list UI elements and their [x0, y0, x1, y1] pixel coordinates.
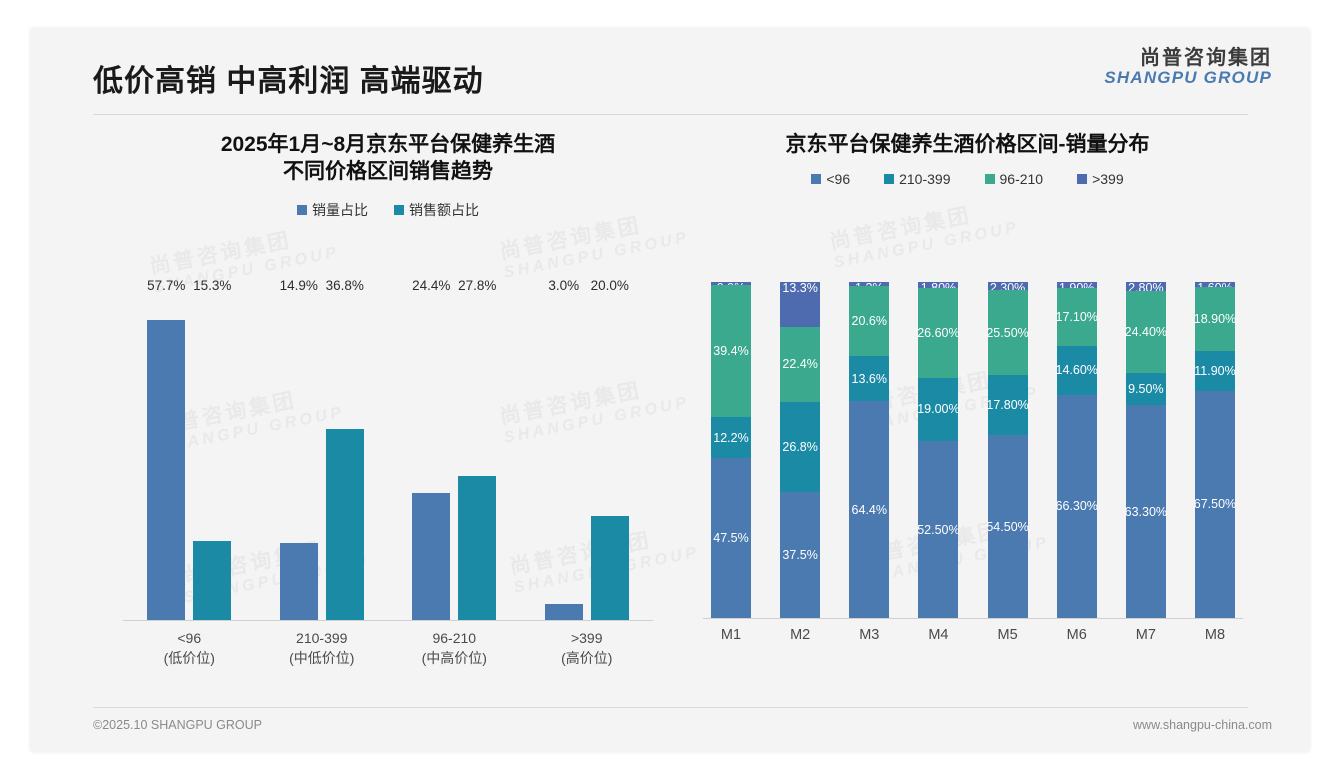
stacked-bar-column: 0.9%39.4%12.2%47.5% — [711, 282, 751, 618]
bar-column: 57.7% — [147, 298, 185, 620]
segment-value-label: 54.50% — [986, 520, 1028, 534]
stacked-bar-segment[interactable]: 17.80% — [988, 375, 1028, 435]
legend-swatch-icon — [884, 174, 894, 184]
bar-group: 57.7%15.3% — [133, 298, 245, 620]
segment-value-label: 11.90% — [1194, 364, 1235, 378]
month-tick-label: M5 — [988, 627, 1028, 643]
segment-value-label: 9.50% — [1128, 382, 1163, 396]
segment-value-label: 24.40% — [1125, 325, 1167, 339]
bar-group: 14.9%36.8% — [266, 298, 378, 620]
stacked-bar-segment[interactable]: 19.00% — [918, 378, 958, 442]
category-tick-primary: 210-399 — [266, 628, 378, 648]
stacked-bar-column: 2.80%24.40%9.50%63.30% — [1126, 282, 1166, 618]
legend-swatch-icon — [811, 174, 821, 184]
bar[interactable]: 3.0% — [545, 604, 583, 620]
stacked-bar-column: 13.3%22.4%26.8%37.5% — [780, 282, 820, 618]
stacked-bar-segment[interactable]: 67.50% — [1195, 391, 1235, 618]
stacked-bar-column: 1.60%18.90%11.90%67.50% — [1195, 282, 1235, 618]
segment-value-label: 26.8% — [782, 440, 817, 454]
segment-value-label: 47.5% — [713, 531, 748, 545]
month-tick-label: M6 — [1057, 627, 1097, 643]
bar-value-label: 14.9% — [280, 278, 318, 293]
bar[interactable]: 24.4% — [412, 493, 450, 620]
stacked-bar-segment[interactable]: 37.5% — [780, 492, 820, 618]
brand-logo: 尚普咨询集团 SHANGPU GROUP — [1104, 48, 1272, 87]
bar[interactable]: 57.7% — [147, 320, 185, 620]
segment-value-label: 17.80% — [986, 398, 1028, 412]
stacked-bar-segment[interactable]: 47.5% — [711, 458, 751, 618]
stacked-bar-segment[interactable]: 20.6% — [849, 286, 889, 355]
stacked-bar-segment[interactable]: 12.2% — [711, 417, 751, 458]
bar-column: 24.4% — [412, 298, 450, 620]
segment-value-label: 37.5% — [782, 548, 817, 562]
stacked-bar-column: 1.80%26.60%19.00%52.50% — [918, 282, 958, 618]
month-tick-label: M1 — [711, 627, 751, 643]
category-tick-label: 96-210(中高价位) — [398, 628, 510, 669]
stacked-bar-segment[interactable]: 24.40% — [1126, 291, 1166, 373]
category-tick-secondary: (高价位) — [531, 648, 643, 668]
month-tick-label: M7 — [1126, 627, 1166, 643]
segment-value-label: 18.90% — [1194, 312, 1236, 326]
category-tick-secondary: (中高价位) — [398, 648, 510, 668]
stacked-bar-segment[interactable]: 22.4% — [780, 327, 820, 402]
category-tick-secondary: (低价位) — [133, 648, 245, 668]
month-tick-label: M3 — [849, 627, 889, 643]
stacked-bar-segment[interactable]: 25.50% — [988, 290, 1028, 376]
bar-value-label: 3.0% — [548, 278, 579, 293]
category-tick-primary: >399 — [531, 628, 643, 648]
bar[interactable]: 14.9% — [280, 543, 318, 620]
legend-item-210-399[interactable]: 210-399 — [884, 171, 950, 187]
segment-value-label: 17.10% — [1056, 310, 1098, 324]
stacked-bar-segment[interactable]: 13.3% — [780, 282, 820, 327]
stacked-bar-segment[interactable]: 26.60% — [918, 288, 958, 377]
stacked-bar-segment[interactable]: 14.60% — [1057, 346, 1097, 395]
legend-item->399[interactable]: >399 — [1077, 171, 1124, 187]
bar-column: 15.3% — [193, 298, 231, 620]
stacked-bar-segment[interactable]: 66.30% — [1057, 395, 1097, 618]
left-chart-title: 2025年1月~8月京东平台保健养生酒 不同价格区间销售趋势 — [93, 132, 683, 186]
legend-label: 210-399 — [899, 171, 950, 187]
legend-item-<96[interactable]: <96 — [811, 171, 850, 187]
segment-value-label: 39.4% — [713, 344, 748, 358]
footer-copyright: ©2025.10 SHANGPU GROUP — [93, 718, 262, 732]
bar-value-label: 27.8% — [458, 278, 496, 293]
legend-label: 96-210 — [1000, 171, 1044, 187]
stacked-bar-category-axis: M1M2M3M4M5M6M7M8 — [703, 627, 1243, 643]
month-tick-label: M8 — [1195, 627, 1235, 643]
stacked-bar-plot-area: 0.9%39.4%12.2%47.5%13.3%22.4%26.8%37.5%1… — [703, 282, 1243, 619]
bar-value-label: 24.4% — [412, 278, 450, 293]
stacked-bar-segment[interactable]: 2.80% — [1126, 282, 1166, 291]
stacked-bar-segment[interactable]: 39.4% — [711, 285, 751, 417]
slide-canvas: 尚普咨询集团 SHANGPU GROUP 尚普咨询集团 SHANGPU GROU… — [30, 28, 1310, 752]
stacked-bar-segment[interactable]: 18.90% — [1195, 287, 1235, 351]
legend-label: >399 — [1092, 171, 1124, 187]
segment-value-label: 67.50% — [1194, 497, 1236, 511]
category-tick-primary: 96-210 — [398, 628, 510, 648]
segment-value-label: 26.60% — [917, 326, 959, 340]
bar[interactable]: 20.0% — [591, 516, 629, 620]
slide: 尚普咨询集团 SHANGPU GROUP 尚普咨询集团 SHANGPU GROU… — [0, 0, 1340, 780]
stacked-bar-column: 1.90%17.10%14.60%66.30% — [1057, 282, 1097, 618]
stacked-bar-segment[interactable]: 11.90% — [1195, 351, 1235, 391]
legend-label: 销量占比 — [312, 200, 368, 220]
stacked-bar-segment[interactable]: 26.8% — [780, 402, 820, 492]
bar[interactable]: 36.8% — [326, 429, 364, 620]
bar-group: 3.0%20.0% — [531, 298, 643, 620]
stacked-bar-segment[interactable]: 52.50% — [918, 441, 958, 618]
bar-column: 3.0% — [545, 298, 583, 620]
left-chart-panel: 2025年1月~8月京东平台保健养生酒 不同价格区间销售趋势 销量占比 销售额占… — [93, 132, 683, 702]
segment-value-label: 66.30% — [1056, 499, 1098, 513]
stacked-bar-segment[interactable]: 54.50% — [988, 435, 1028, 618]
stacked-bar-segment[interactable]: 63.30% — [1126, 405, 1166, 618]
bar[interactable]: 15.3% — [193, 541, 231, 620]
segment-value-label: 13.6% — [852, 372, 887, 386]
month-tick-label: M2 — [780, 627, 820, 643]
segment-value-label: 64.4% — [852, 503, 887, 517]
bar-value-label: 36.8% — [326, 278, 364, 293]
bar-value-label: 20.0% — [591, 278, 629, 293]
bar-column: 14.9% — [280, 298, 318, 620]
stacked-bar-segment[interactable]: 9.50% — [1126, 373, 1166, 405]
legend-swatch-icon — [1077, 174, 1087, 184]
stacked-bar-segment[interactable]: 64.4% — [849, 401, 889, 618]
category-tick-secondary: (中低价位) — [266, 648, 378, 668]
logo-chinese-name: 尚普咨询集团 — [1104, 48, 1272, 69]
legend-item-sales-volume[interactable]: 销量占比 — [297, 200, 368, 220]
left-chart-title-line2: 不同价格区间销售趋势 — [127, 159, 649, 186]
legend-label: <96 — [826, 171, 850, 187]
footer-website[interactable]: www.shangpu-china.com — [1133, 718, 1272, 732]
legend-swatch-icon — [394, 205, 404, 215]
bar-column: 27.8% — [458, 298, 496, 620]
grouped-bar-category-axis: <96(低价位)210-399(中低价位)96-210(中高价位)>399(高价… — [123, 628, 653, 669]
header-divider — [93, 114, 1248, 115]
category-tick-label: 210-399(中低价位) — [266, 628, 378, 669]
segment-value-label: 20.6% — [852, 314, 887, 328]
page-title: 低价高销 中高利润 高端驱动 — [93, 56, 484, 100]
legend-swatch-icon — [297, 205, 307, 215]
segment-value-label: 14.60% — [1056, 363, 1098, 377]
segment-value-label: 19.00% — [917, 402, 959, 416]
logo-english-name: SHANGPU GROUP — [1104, 69, 1272, 87]
stacked-bar-segment[interactable]: 13.6% — [849, 356, 889, 402]
grouped-bar-plot-area: 57.7%15.3%14.9%36.8%24.4%27.8%3.0%20.0% — [123, 298, 653, 621]
legend-item-96-210[interactable]: 96-210 — [985, 171, 1044, 187]
stacked-bar-segment[interactable]: 2.30% — [988, 282, 1028, 290]
category-tick-primary: <96 — [133, 628, 245, 648]
segment-value-label: 13.3% — [782, 281, 817, 295]
stacked-bar-column: 2.30%25.50%17.80%54.50% — [988, 282, 1028, 618]
month-tick-label: M4 — [918, 627, 958, 643]
left-chart-legend: 销量占比 销售额占比 — [93, 200, 683, 220]
slide-header: 低价高销 中高利润 高端驱动 尚普咨询集团 SHANGPU GROUP — [30, 28, 1310, 120]
bar[interactable]: 27.8% — [458, 476, 496, 620]
category-tick-label: >399(高价位) — [531, 628, 643, 669]
footer-divider — [93, 707, 1248, 708]
legend-label: 销售额占比 — [409, 200, 479, 220]
segment-value-label: 52.50% — [917, 523, 959, 537]
bar-value-label: 15.3% — [193, 278, 231, 293]
bar-value-label: 57.7% — [147, 278, 185, 293]
stacked-bar-segment[interactable]: 17.10% — [1057, 288, 1097, 346]
segment-value-label: 25.50% — [986, 326, 1028, 340]
legend-swatch-icon — [985, 174, 995, 184]
right-chart-panel: 京东平台保健养生酒价格区间-销量分布 <96210-39996-210>399 … — [685, 132, 1250, 702]
segment-value-label: 12.2% — [713, 431, 748, 445]
segment-value-label: 63.30% — [1125, 505, 1167, 519]
bar-column: 20.0% — [591, 298, 629, 620]
bar-group: 24.4%27.8% — [398, 298, 510, 620]
segment-value-label: 22.4% — [782, 357, 817, 371]
category-tick-label: <96(低价位) — [133, 628, 245, 669]
left-chart-title-line1: 2025年1月~8月京东平台保健养生酒 — [127, 132, 649, 159]
bar-column: 36.8% — [326, 298, 364, 620]
right-chart-title: 京东平台保健养生酒价格区间-销量分布 — [685, 132, 1250, 159]
right-chart-legend: <96210-39996-210>399 — [685, 171, 1250, 187]
stacked-bar-column: 1.3%20.6%13.6%64.4% — [849, 282, 889, 618]
grouped-bar-chart: 57.7%15.3%14.9%36.8%24.4%27.8%3.0%20.0% … — [123, 298, 653, 642]
stacked-bar-chart: 0.9%39.4%12.2%47.5%13.3%22.4%26.8%37.5%1… — [703, 282, 1243, 642]
legend-item-sales-amount[interactable]: 销售额占比 — [394, 200, 479, 220]
